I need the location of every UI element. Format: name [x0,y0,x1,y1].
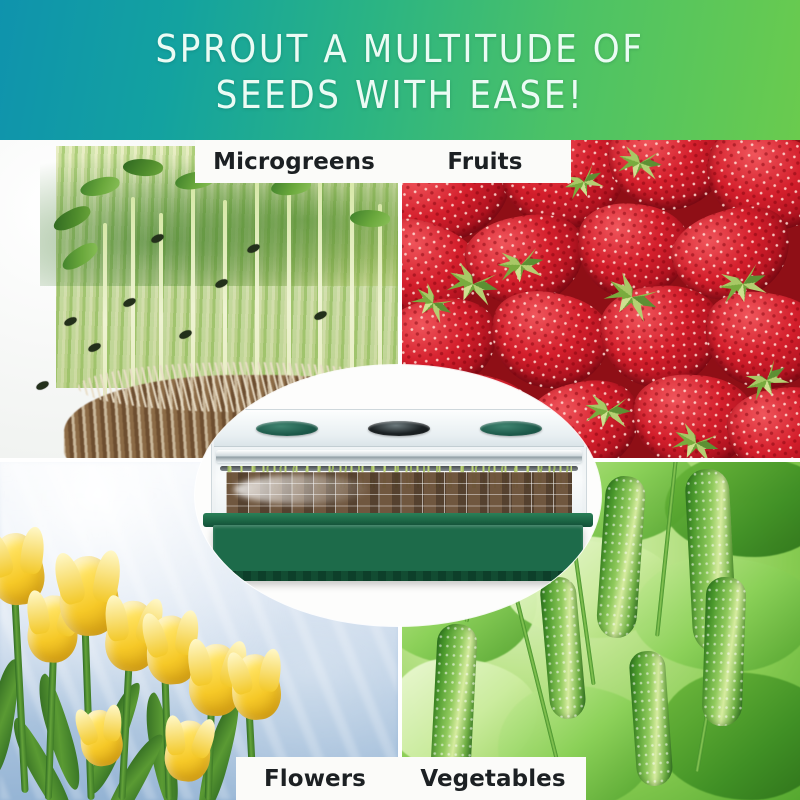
label-flowers-text: Flowers [264,766,366,792]
headline-text: SPROUT A MULTITUDE OF SEEDS WITH EASE! [0,26,800,118]
tray-base [213,525,583,581]
product-marketing-image: SPROUT A MULTITUDE OF SEEDS WITH EASE! [0,0,800,800]
seed-starter-tray [203,409,593,589]
label-vegetables: Vegetables [400,757,586,800]
label-fruits-text: Fruits [447,149,522,175]
top-label-band: Microgreens Fruits [195,140,571,183]
label-microgreens-text: Microgreens [213,149,375,175]
header-banner: SPROUT A MULTITUDE OF SEEDS WITH EASE! [0,0,800,140]
humidity-dome [211,409,587,523]
product-callout-oval [195,365,601,626]
dome-vent-left [256,421,318,436]
label-flowers: Flowers [236,757,394,800]
sprout-stem [318,169,322,398]
dome-front-rib [216,450,582,463]
label-vegetables-text: Vegetables [420,766,565,792]
bottom-label-band: Flowers Vegetables [236,757,586,800]
dome-highlight [234,475,369,504]
label-fruits: Fruits [399,140,571,183]
dome-top-panel [214,412,584,447]
cucumber [702,576,747,726]
dome-vent-right [480,421,542,436]
label-microgreens: Microgreens [195,140,393,183]
dome-vent-center [368,421,430,436]
